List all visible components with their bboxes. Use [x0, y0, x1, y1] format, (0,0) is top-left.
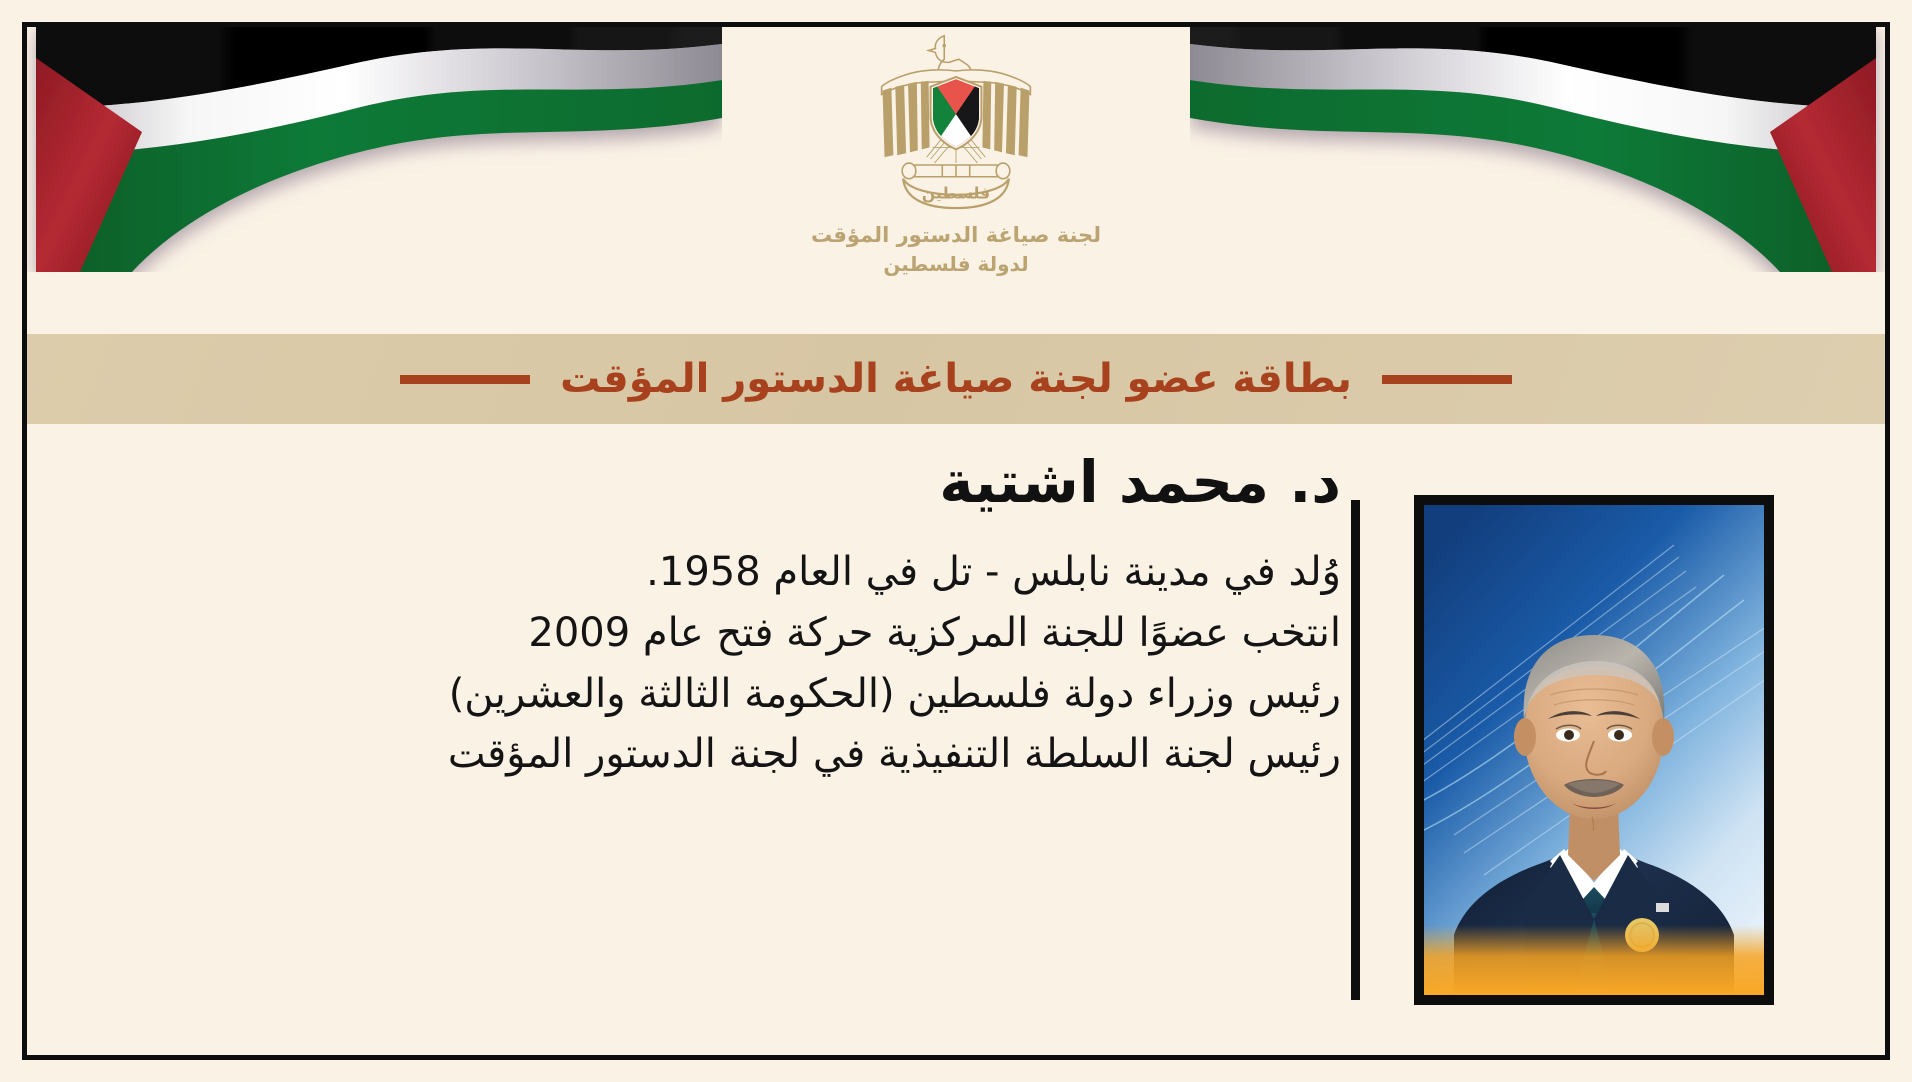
portrait-column	[1414, 495, 1774, 1005]
palestine-eagle-emblem-icon: فلسطين	[858, 26, 1054, 212]
banner-title: بطاقة عضو لجنة صياغة الدستور المؤقت	[560, 356, 1352, 402]
card-title-banner: بطاقة عضو لجنة صياغة الدستور المؤقت	[27, 334, 1885, 424]
bio-line: رئيس وزراء دولة فلسطين (الحكومة الثالثة …	[40, 664, 1341, 725]
horizontal-rule-icon	[400, 375, 530, 384]
person-portrait-photo	[1414, 495, 1774, 1005]
member-card: فلسطين لجنة صياغة الدستور المؤقت لدولة ف…	[0, 0, 1912, 1082]
vertical-divider	[1351, 500, 1360, 1000]
organization-name: لجنة صياغة الدستور المؤقت لدولة فلسطين	[811, 220, 1101, 279]
organization-line-2: لدولة فلسطين	[811, 250, 1101, 279]
bio-line: وُلد في مدينة نابلس - تل في العام 1958.	[40, 542, 1341, 603]
bio-line: رئيس لجنة السلطة التنفيذية في لجنة الدست…	[40, 724, 1341, 785]
horizontal-rule-icon	[1382, 375, 1512, 384]
palestine-flag-ribbon-icon	[1190, 22, 1890, 272]
page-title: د. محمد اشتية	[40, 448, 1341, 516]
organization-line-1: لجنة صياغة الدستور المؤقت	[811, 220, 1101, 250]
palestine-flag-ribbon-icon	[22, 22, 722, 272]
emblem-shield-label: فلسطين	[922, 183, 990, 202]
bio-line: انتخب عضوًا للجنة المركزية حركة فتح عام …	[40, 603, 1341, 664]
profile-text-column: د. محمد اشتية وُلد في مدينة نابلس - تل ف…	[40, 440, 1351, 785]
card-body: د. محمد اشتية وُلد في مدينة نابلس - تل ف…	[40, 440, 1872, 1042]
